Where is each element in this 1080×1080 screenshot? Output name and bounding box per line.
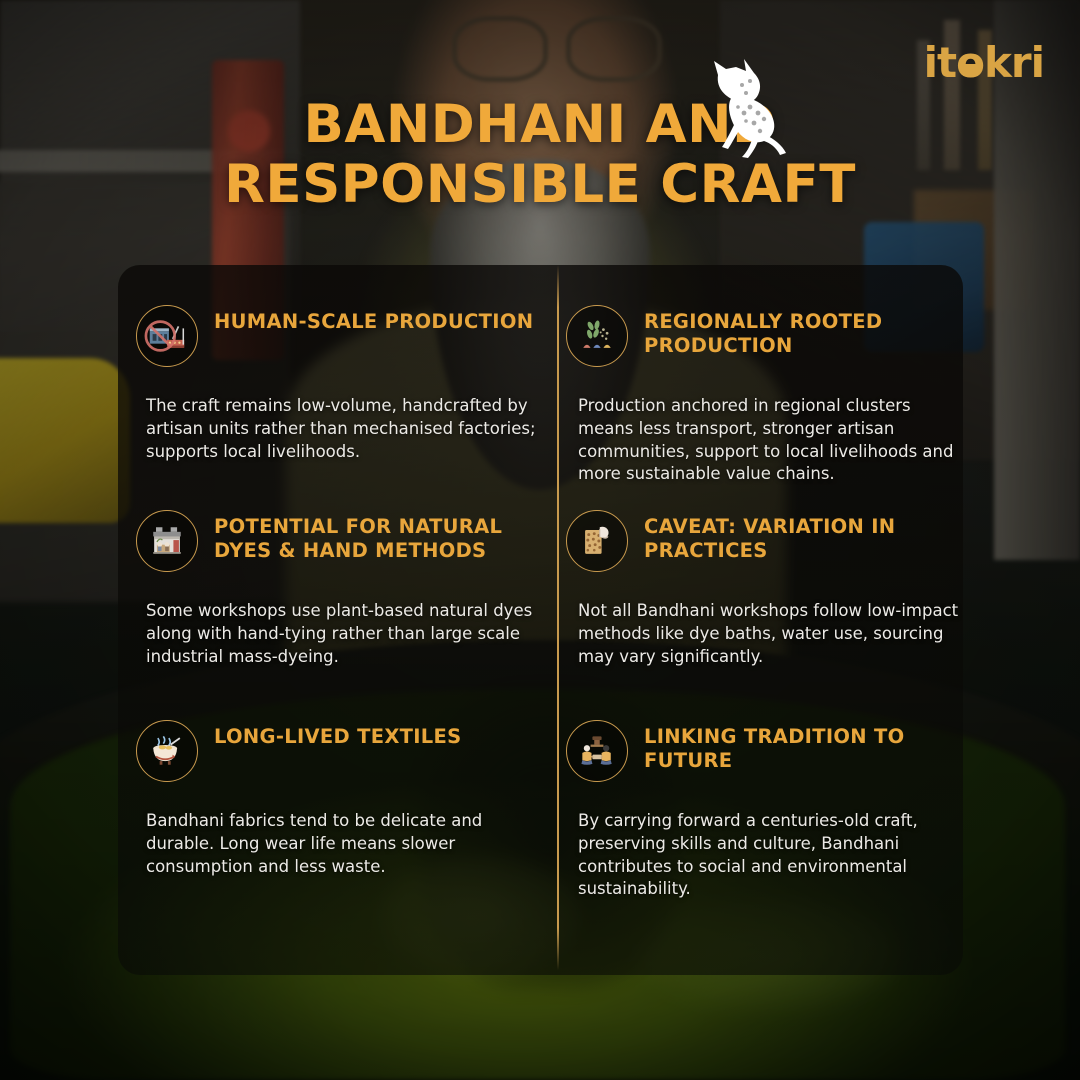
item-header: REGIONALLY ROOTED PRODUCTION	[566, 305, 966, 367]
itokri-logo[interactable]: itokri	[924, 42, 1044, 84]
steaming-dye-pot-icon	[136, 720, 198, 782]
logo-text-part2: kri	[984, 38, 1044, 87]
item-header: POTENTIAL FOR NATURAL DYES & HAND METHOD…	[136, 510, 536, 572]
item-body: The craft remains low-volume, handcrafte…	[146, 395, 536, 463]
workshop-building-icon	[136, 510, 198, 572]
item-header: HUMAN-SCALE PRODUCTION	[136, 305, 536, 367]
item-title: CAVEAT: VARIATION IN PRACTICES	[644, 510, 966, 563]
item-title: HUMAN-SCALE PRODUCTION	[214, 305, 533, 334]
item-body: By carrying forward a centuries-old craf…	[578, 810, 966, 901]
content-panel: HUMAN-SCALE PRODUCTION The craft remains…	[118, 265, 963, 975]
item-header: LINKING TRADITION TO FUTURE	[566, 720, 966, 782]
item-linking-tradition-to-future[interactable]: LINKING TRADITION TO FUTURE By carrying …	[566, 720, 966, 901]
item-potential-for-natural-dyes[interactable]: POTENTIAL FOR NATURAL DYES & HAND METHOD…	[136, 510, 536, 668]
item-title: LINKING TRADITION TO FUTURE	[644, 720, 966, 773]
page-title: BANDHANI AND RESPONSIBLE CRAFT	[0, 95, 1080, 215]
item-title: REGIONALLY ROOTED PRODUCTION	[644, 305, 966, 358]
item-body: Some workshops use plant-based natural d…	[146, 600, 536, 668]
logo-text-part1: it	[924, 38, 956, 87]
item-title: POTENTIAL FOR NATURAL DYES & HAND METHOD…	[214, 510, 536, 563]
cat-icon	[688, 55, 798, 160]
two-artisans-icon	[566, 720, 628, 782]
item-title: LONG-LIVED TEXTILES	[214, 720, 462, 749]
item-header: LONG-LIVED TEXTILES	[136, 720, 536, 782]
title-line-2: RESPONSIBLE CRAFT	[224, 154, 856, 215]
hand-holding-fabric-icon	[566, 510, 628, 572]
column-divider	[557, 265, 559, 970]
item-long-lived-textiles[interactable]: LONG-LIVED TEXTILES Bandhani fabrics ten…	[136, 720, 536, 878]
item-human-scale-production[interactable]: HUMAN-SCALE PRODUCTION The craft remains…	[136, 305, 536, 463]
item-body: Bandhani fabrics tend to be delicate and…	[146, 810, 536, 878]
item-body: Not all Bandhani workshops follow low-im…	[578, 600, 966, 668]
item-body: Production anchored in regional clusters…	[578, 395, 966, 486]
logo-letter-o: o	[956, 42, 984, 84]
natural-dye-leaves-icon	[566, 305, 628, 367]
no-factory-icon	[136, 305, 198, 367]
item-caveat-variation-in-practices[interactable]: CAVEAT: VARIATION IN PRACTICES Not all B…	[566, 510, 966, 668]
item-regionally-rooted-production[interactable]: REGIONALLY ROOTED PRODUCTION Production …	[566, 305, 966, 486]
item-header: CAVEAT: VARIATION IN PRACTICES	[566, 510, 966, 572]
